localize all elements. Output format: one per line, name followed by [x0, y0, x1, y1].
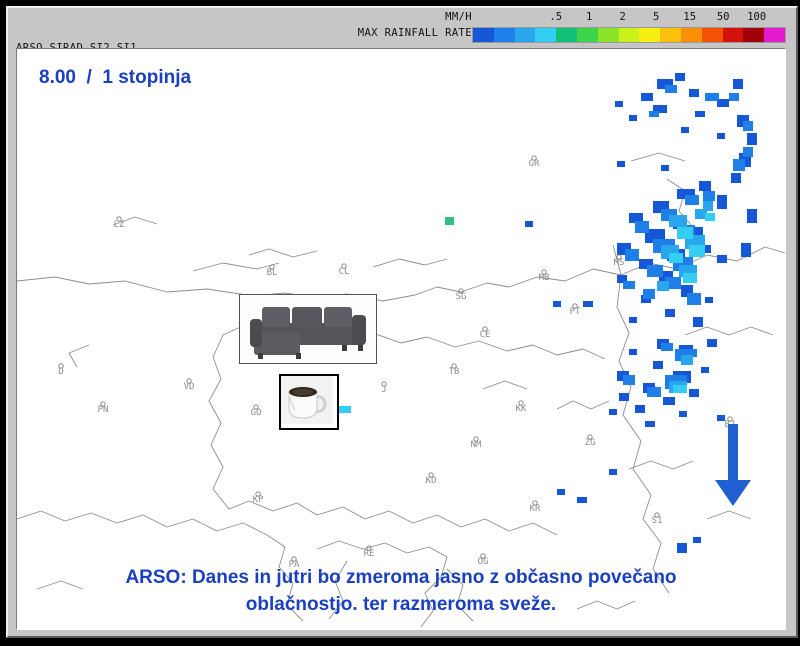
station-ms: MS — [614, 255, 625, 268]
station-label: VD — [184, 382, 195, 392]
radar-echoes — [337, 73, 757, 553]
legend-title: MAX RAINFALL RATE — [358, 27, 472, 39]
station-bl: BL — [267, 265, 278, 278]
station-label: RE — [364, 549, 375, 559]
station-j: J — [381, 382, 386, 395]
legend-tick-2: 2 — [620, 11, 626, 23]
legend-swatch-14 — [764, 28, 785, 42]
legend-swatch-0 — [473, 28, 494, 42]
legend-tick-labels: .51251550100 — [472, 11, 786, 26]
legend-swatch-8 — [639, 28, 660, 42]
legend-swatch-13 — [743, 28, 764, 42]
legend-swatch-7 — [619, 28, 640, 42]
station-label: SG — [456, 292, 467, 302]
page-title: 8.00 / 1 stopinja — [39, 67, 191, 89]
station-label: D — [58, 367, 63, 377]
station-kr: KR — [530, 501, 541, 514]
station-nm: NM — [471, 437, 482, 450]
legend-swatch-10 — [681, 28, 702, 42]
window-frame: ARSO SIRAD SI2 SI1 2025-04-08 05:45 UTC … — [6, 6, 798, 638]
station-kp: KP — [253, 492, 264, 505]
legend-tick-.5: .5 — [549, 11, 562, 23]
station-label: KK — [516, 404, 527, 414]
units-label: MM/H — [445, 11, 472, 23]
radar-screenshot: ARSO SIRAD SI2 SI1 2025-04-08 05:45 UTC … — [0, 0, 800, 646]
station-label: NM — [471, 440, 482, 450]
station-pt: PT — [570, 304, 581, 317]
legend-swatch-12 — [723, 28, 744, 42]
station-label: KR — [530, 504, 541, 514]
station-label: MB — [539, 273, 550, 283]
station-label: MS — [614, 258, 625, 268]
station-label: GO — [251, 408, 262, 418]
station-label: KO — [426, 476, 437, 486]
station-label: CE — [480, 330, 491, 340]
arrow-shape — [715, 424, 751, 506]
station-label: S1 — [652, 516, 663, 526]
station-lz: LZ — [114, 217, 125, 230]
legend-tick-1: 1 — [586, 11, 592, 23]
station-label: J — [381, 385, 386, 395]
station-label: CL — [339, 267, 350, 277]
station-s1: S1 — [652, 513, 663, 526]
station-cl: CL — [339, 264, 350, 277]
station-label: ZG — [585, 438, 596, 448]
down-arrow-annotation — [711, 424, 755, 508]
station-vd: VD — [184, 379, 195, 392]
legend-tick-100: 100 — [747, 11, 766, 23]
station-label: PN — [98, 405, 109, 415]
legend-swatch-2 — [515, 28, 536, 42]
station-kk: KK — [516, 401, 527, 414]
legend-swatch-4 — [556, 28, 577, 42]
legend-color-bar — [472, 27, 786, 43]
legend-swatch-5 — [577, 28, 598, 42]
station-d: D — [58, 364, 63, 377]
legend-tick-50: 50 — [717, 11, 730, 23]
station-go: GO — [251, 405, 262, 418]
station-pn: PN — [98, 402, 109, 415]
caption-line-2: oblačnostjo. ter razmeroma sveže. — [17, 591, 785, 618]
station-zg: ZG — [585, 435, 596, 448]
station-mb: MB — [539, 270, 550, 283]
station-label: TB — [449, 367, 460, 377]
radar-map[interactable]: LZBLCLGRMSMBJESGPTBOCETBVDDPNIDJGOKKNMZG… — [16, 48, 786, 630]
station-label: PT — [570, 307, 581, 317]
station-ce: CE — [480, 327, 491, 340]
sofa-icon — [240, 295, 376, 363]
station-label: KP — [253, 495, 264, 505]
station-label: GR — [529, 159, 540, 169]
station-ko: KO — [426, 473, 437, 486]
legend-tick-15: 15 — [683, 11, 696, 23]
coffee-cup[interactable] — [279, 374, 339, 430]
legend-swatch-9 — [660, 28, 681, 42]
green-echo — [445, 217, 454, 225]
legend-swatch-6 — [598, 28, 619, 42]
legend-swatch-11 — [702, 28, 723, 42]
legend-tick-5: 5 — [653, 11, 659, 23]
caption-line-1: ARSO: Danes in jutri bo zmeroma jasno z … — [17, 564, 785, 591]
station-gr: GR — [529, 156, 540, 169]
forecast-caption: ARSO: Danes in jutri bo zmeroma jasno z … — [17, 564, 785, 618]
station-label: BL — [267, 268, 278, 278]
station-label: LZ — [114, 220, 125, 230]
header-bar: ARSO SIRAD SI2 SI1 2025-04-08 05:45 UTC … — [8, 8, 796, 46]
grey-sectional-sofa[interactable] — [239, 294, 377, 364]
map-vectors: LZBLCLGRMSMBJESGPTBOCETBVDDPNIDJGOKKNMZG… — [17, 49, 785, 629]
coffee-cup-icon — [281, 376, 333, 424]
station-tb: TB — [449, 364, 460, 377]
legend-swatch-3 — [535, 28, 556, 42]
legend-swatch-1 — [494, 28, 515, 42]
